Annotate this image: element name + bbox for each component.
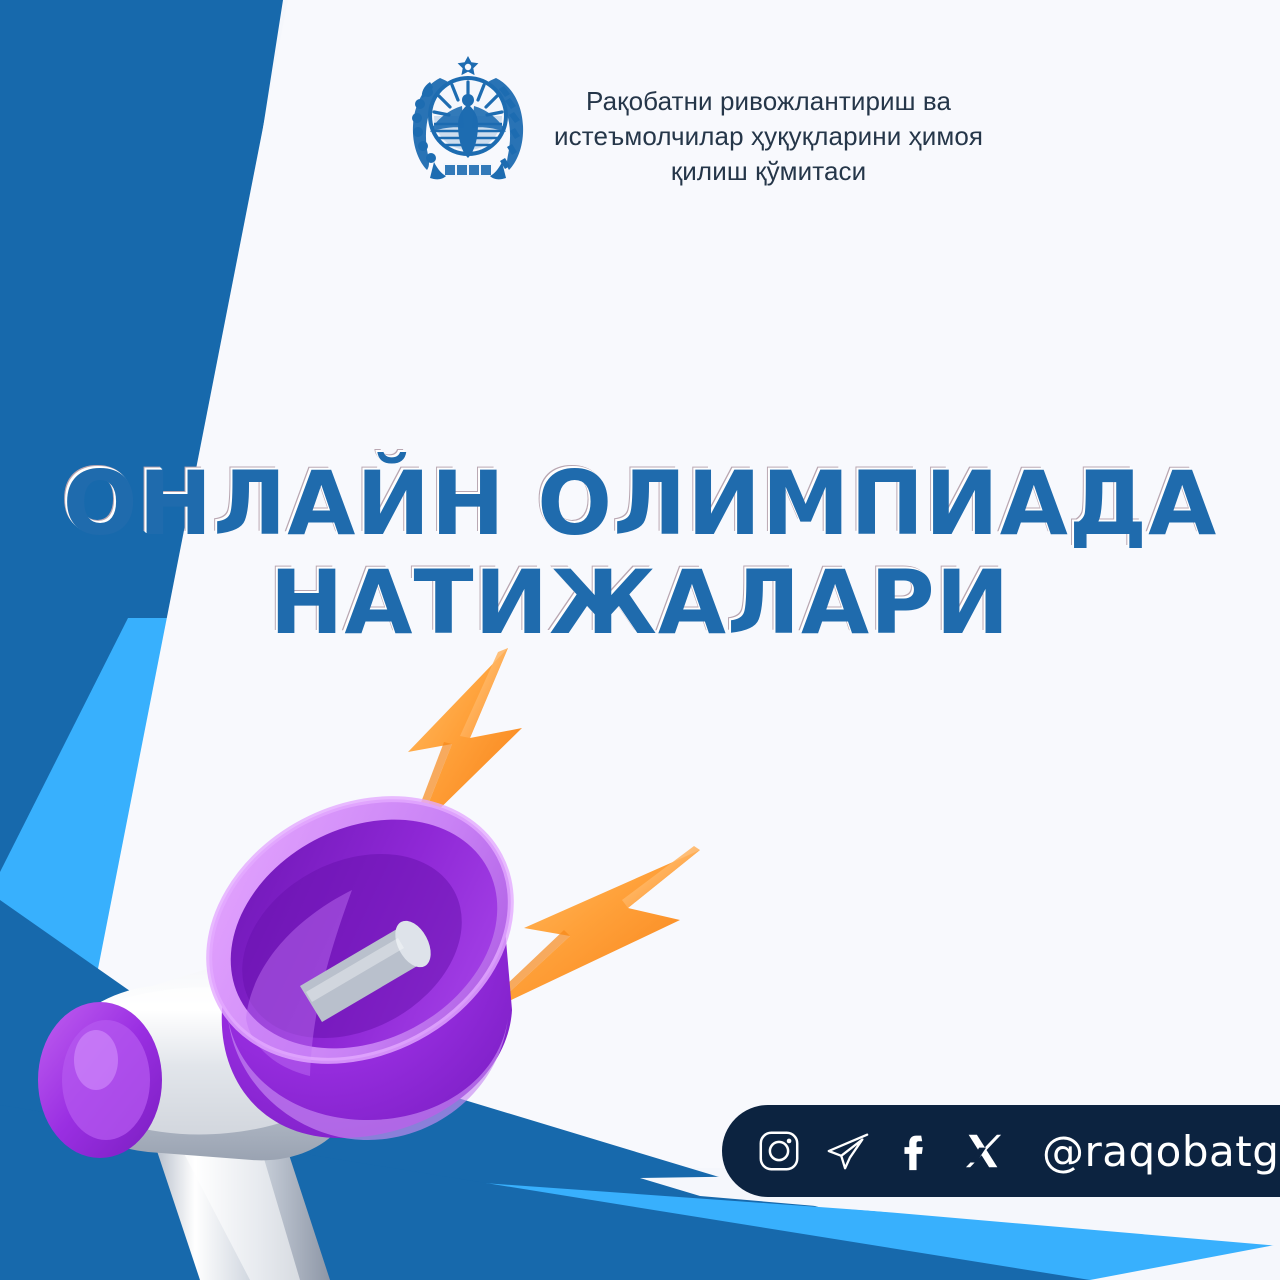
organization-name: Рақобатни ривожлантириш ва истеъмолчилар… [554,52,983,188]
org-name-line-1: Рақобатни ривожлантириш ва [554,84,983,119]
uzbekistan-coat-of-arms-icon [404,52,532,192]
facebook-icon[interactable] [892,1128,938,1174]
poster-canvas: Рақобатни ривожлантириш ва истеъмолчилар… [0,0,1280,1280]
org-name-line-2: истеъмолчилар ҳуқуқларини ҳимоя [554,119,983,154]
social-media-bar[interactable]: @raqobatgovuz [722,1105,1280,1197]
megaphone-3d [38,748,557,1280]
telegram-icon[interactable] [824,1128,870,1174]
lightning-bolt-lower [486,846,700,1010]
x-twitter-icon[interactable] [960,1128,1006,1174]
megaphone-collar [38,1002,162,1158]
social-handle: @raqobatgovuz [1042,1127,1280,1176]
header: Рақобатни ривожлантириш ва истеъмолчилар… [404,52,983,192]
instagram-icon[interactable] [756,1128,802,1174]
org-name-line-3: қилиш қўмитаси [554,154,983,189]
illustration-layer [0,0,1280,1280]
